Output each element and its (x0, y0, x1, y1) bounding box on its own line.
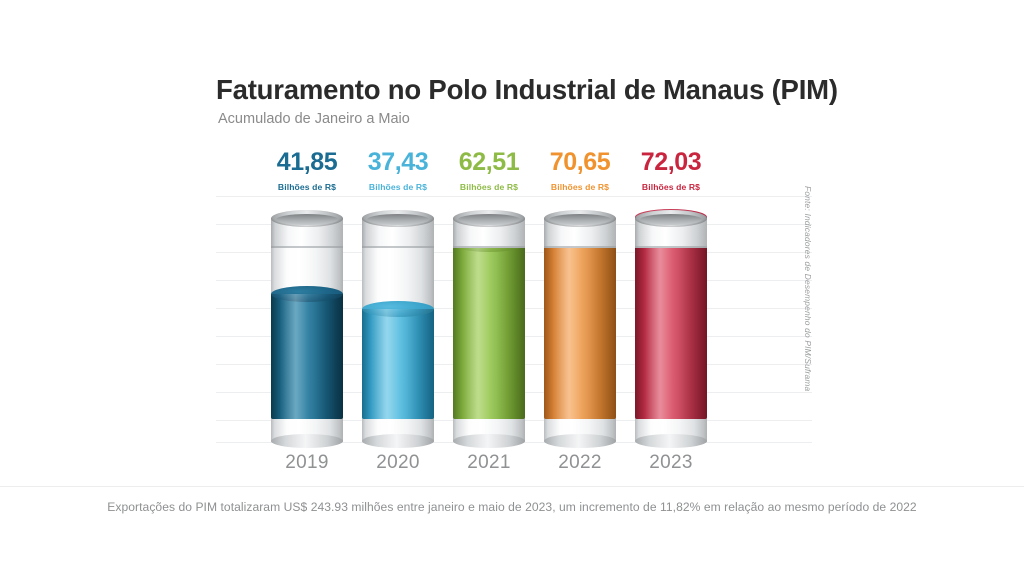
axis-label-2023: 2023 (623, 452, 719, 474)
bar-value-unit: Bilhões de R$ (441, 182, 537, 192)
tube-mouth (544, 210, 616, 227)
bar-value-label: 41,85 (259, 150, 355, 175)
bar-group-2019[interactable]: 41,85 Bilhões de R$ 2019 (259, 150, 355, 192)
bar-series: 41,85 Bilhões de R$ 2019 37,43 Bilhões d… (0, 0, 1024, 576)
bar-value-unit: Bilhões de R$ (532, 182, 628, 192)
bar-value-unit: Bilhões de R$ (259, 182, 355, 192)
tube-mouth-inner (549, 214, 611, 225)
liquid-gloss (362, 309, 434, 419)
bar-value-label: 37,43 (350, 150, 446, 175)
bar-group-2020[interactable]: 37,43 Bilhões de R$ 2020 (350, 150, 446, 192)
bar-fill (453, 244, 525, 419)
tube-base (453, 434, 525, 448)
bar-fill (362, 309, 434, 419)
bar-tube (544, 208, 616, 448)
axis-label-2021: 2021 (441, 452, 537, 474)
source-note: Fonte: Indicadores de Desempenho do PIM/… (803, 186, 813, 376)
bar-group-2021[interactable]: 62,51 Bilhões de R$ 2021 (441, 150, 537, 192)
bar-tube (635, 208, 707, 448)
bar-value-label: 70,65 (532, 150, 628, 175)
axis-label-2019: 2019 (259, 452, 355, 474)
tube-base (635, 434, 707, 448)
tube-mouth-inner (367, 214, 429, 225)
tube-mouth-inner (276, 214, 338, 225)
bar-value-unit: Bilhões de R$ (350, 182, 446, 192)
bar-tube (362, 208, 434, 448)
bar-value-unit: Bilhões de R$ (623, 182, 719, 192)
bar-tube (271, 208, 343, 448)
bar-value-label: 62,51 (441, 150, 537, 175)
tube-mouth (271, 210, 343, 227)
footer-divider (0, 486, 1024, 487)
tube-mouth (635, 210, 707, 227)
bar-group-2023[interactable]: 72,03 Bilhões de R$ 2023 (623, 150, 719, 192)
tube-mouth (453, 210, 525, 227)
tube-mouth-inner (458, 214, 520, 225)
bar-value-label: 72,03 (623, 150, 719, 175)
bar-tube (453, 208, 525, 448)
bar-group-2022[interactable]: 70,65 Bilhões de R$ 2022 (532, 150, 628, 192)
footer-caption: Exportações do PIM totalizaram US$ 243.9… (0, 500, 1024, 514)
tube-mouth (362, 210, 434, 227)
liquid-gloss (453, 244, 525, 419)
tube-base (362, 434, 434, 448)
axis-label-2022: 2022 (532, 452, 628, 474)
tube-base (271, 434, 343, 448)
tube-base (544, 434, 616, 448)
liquid-gloss (544, 227, 616, 419)
liquid-gloss (271, 294, 343, 419)
axis-label-2020: 2020 (350, 452, 446, 474)
bar-fill (271, 294, 343, 419)
tube-mouth-inner (640, 214, 702, 225)
bar-fill (544, 227, 616, 419)
